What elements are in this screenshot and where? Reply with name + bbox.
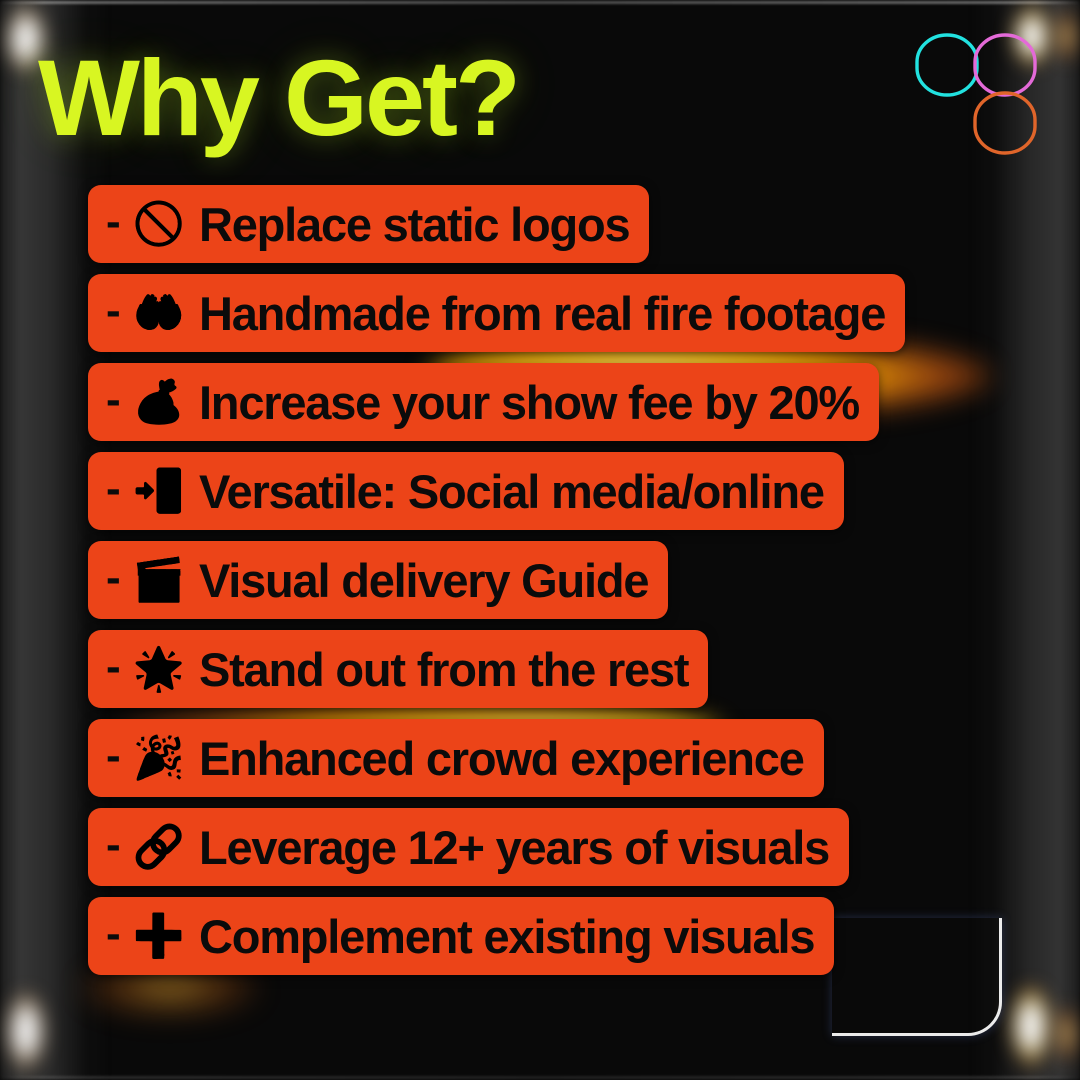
benefit-pill[interactable]: -💰Increase your show fee by 20% <box>88 363 879 441</box>
benefit-pill[interactable]: -🤲Handmade from real fire footage <box>88 274 905 352</box>
money-bag-icon: 💰 <box>133 381 185 423</box>
right-edge-glow <box>970 0 1080 1080</box>
benefits-list: -🚫Replace static logos-🤲Handmade from re… <box>88 185 905 986</box>
corner-light-bottom-right <box>1010 986 1052 1066</box>
bullet-dash: - <box>106 378 121 422</box>
page-title: Why Get? <box>38 44 518 152</box>
benefit-pill[interactable]: -🚫Replace static logos <box>88 185 649 263</box>
corner-flare-bottom-right <box>1056 1006 1078 1062</box>
benefit-pill[interactable]: -🎬Visual delivery Guide <box>88 541 668 619</box>
three-ring-logo[interactable] <box>912 30 1042 160</box>
ring-bottom-right-icon <box>975 93 1035 153</box>
benefit-pill[interactable]: -🎉Enhanced crowd experience <box>88 719 824 797</box>
benefit-label: Visual delivery Guide <box>199 557 648 604</box>
bullet-dash: - <box>106 645 121 689</box>
benefit-pill[interactable]: -🌟Stand out from the rest <box>88 630 708 708</box>
bullet-dash: - <box>106 289 121 333</box>
bullet-dash: - <box>106 823 121 867</box>
clapper-board-icon: 🎬 <box>133 559 185 601</box>
benefit-label: Versatile: Social media/online <box>199 468 824 515</box>
bullet-dash: - <box>106 200 121 244</box>
bullet-dash: - <box>106 467 121 511</box>
benefit-label: Stand out from the rest <box>199 646 688 693</box>
plus-icon: ➕ <box>133 915 185 957</box>
link-chain-icon: 🔗 <box>133 826 185 868</box>
benefit-label: Enhanced crowd experience <box>199 735 804 782</box>
ring-top-left-icon <box>917 35 977 95</box>
party-popper-icon: 🎉 <box>133 737 185 779</box>
bottom-frame-rule <box>0 1076 1080 1079</box>
open-hands-icon: 🤲 <box>133 292 185 334</box>
top-frame-rule <box>0 1 1080 4</box>
benefit-pill[interactable]: -🔗Leverage 12+ years of visuals <box>88 808 849 886</box>
prohibited-icon: 🚫 <box>133 203 185 245</box>
benefit-label: Leverage 12+ years of visuals <box>199 824 829 871</box>
bullet-dash: - <box>106 556 121 600</box>
benefit-label: Complement existing visuals <box>199 913 814 960</box>
bullet-dash: - <box>106 912 121 956</box>
benefit-pill[interactable]: -➕Complement existing visuals <box>88 897 834 975</box>
corner-flare-top-right <box>1056 10 1078 62</box>
benefit-pill[interactable]: -📲Versatile: Social media/online <box>88 452 844 530</box>
corner-light-bottom-left <box>6 992 46 1070</box>
benefit-label: Handmade from real fire footage <box>199 290 885 337</box>
slide-canvas: Why Get? -🚫Replace static logos-🤲Handmad… <box>0 0 1080 1080</box>
benefit-label: Increase your show fee by 20% <box>199 379 859 426</box>
ring-top-right-icon <box>975 35 1035 95</box>
mobile-arrow-icon: 📲 <box>133 470 185 512</box>
glowing-star-icon: 🌟 <box>133 648 185 690</box>
benefit-label: Replace static logos <box>199 201 630 248</box>
bullet-dash: - <box>106 734 121 778</box>
